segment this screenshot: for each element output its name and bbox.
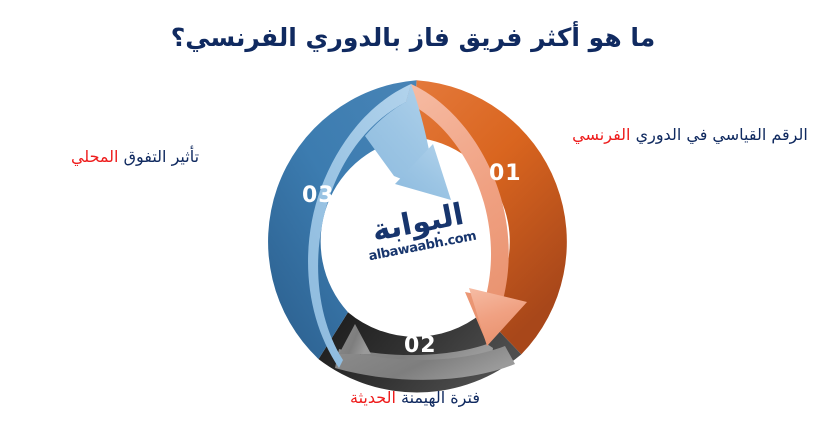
segment-number-02: 02 [404, 333, 437, 358]
page-title: ما هو أكثر فريق فاز بالدوري الفرنسي؟ [0, 22, 826, 53]
segment-number-01: 01 [489, 161, 522, 186]
callout-label-02: فترة الهيمنة الحديثة [295, 387, 535, 409]
callout-01-highlight: الفرنسي [572, 125, 630, 144]
callout-03-highlight: المحلي [71, 147, 119, 166]
callout-label-03: تأثير التفوق المحلي [20, 146, 250, 168]
callout-02-highlight: الحديثة [350, 388, 396, 407]
callout-01-plain: الرقم القياسي في الدوري [636, 125, 808, 144]
infographic-page: ما هو أكثر فريق فاز بالدوري الفرنسي؟ [0, 0, 826, 435]
callout-03-plain: تأثير التفوق [124, 147, 199, 166]
segment-number-03: 03 [302, 183, 335, 208]
callout-label-01: الرقم القياسي في الدوري الفرنسي [565, 124, 815, 146]
callout-02-plain: فترة الهيمنة [401, 388, 480, 407]
